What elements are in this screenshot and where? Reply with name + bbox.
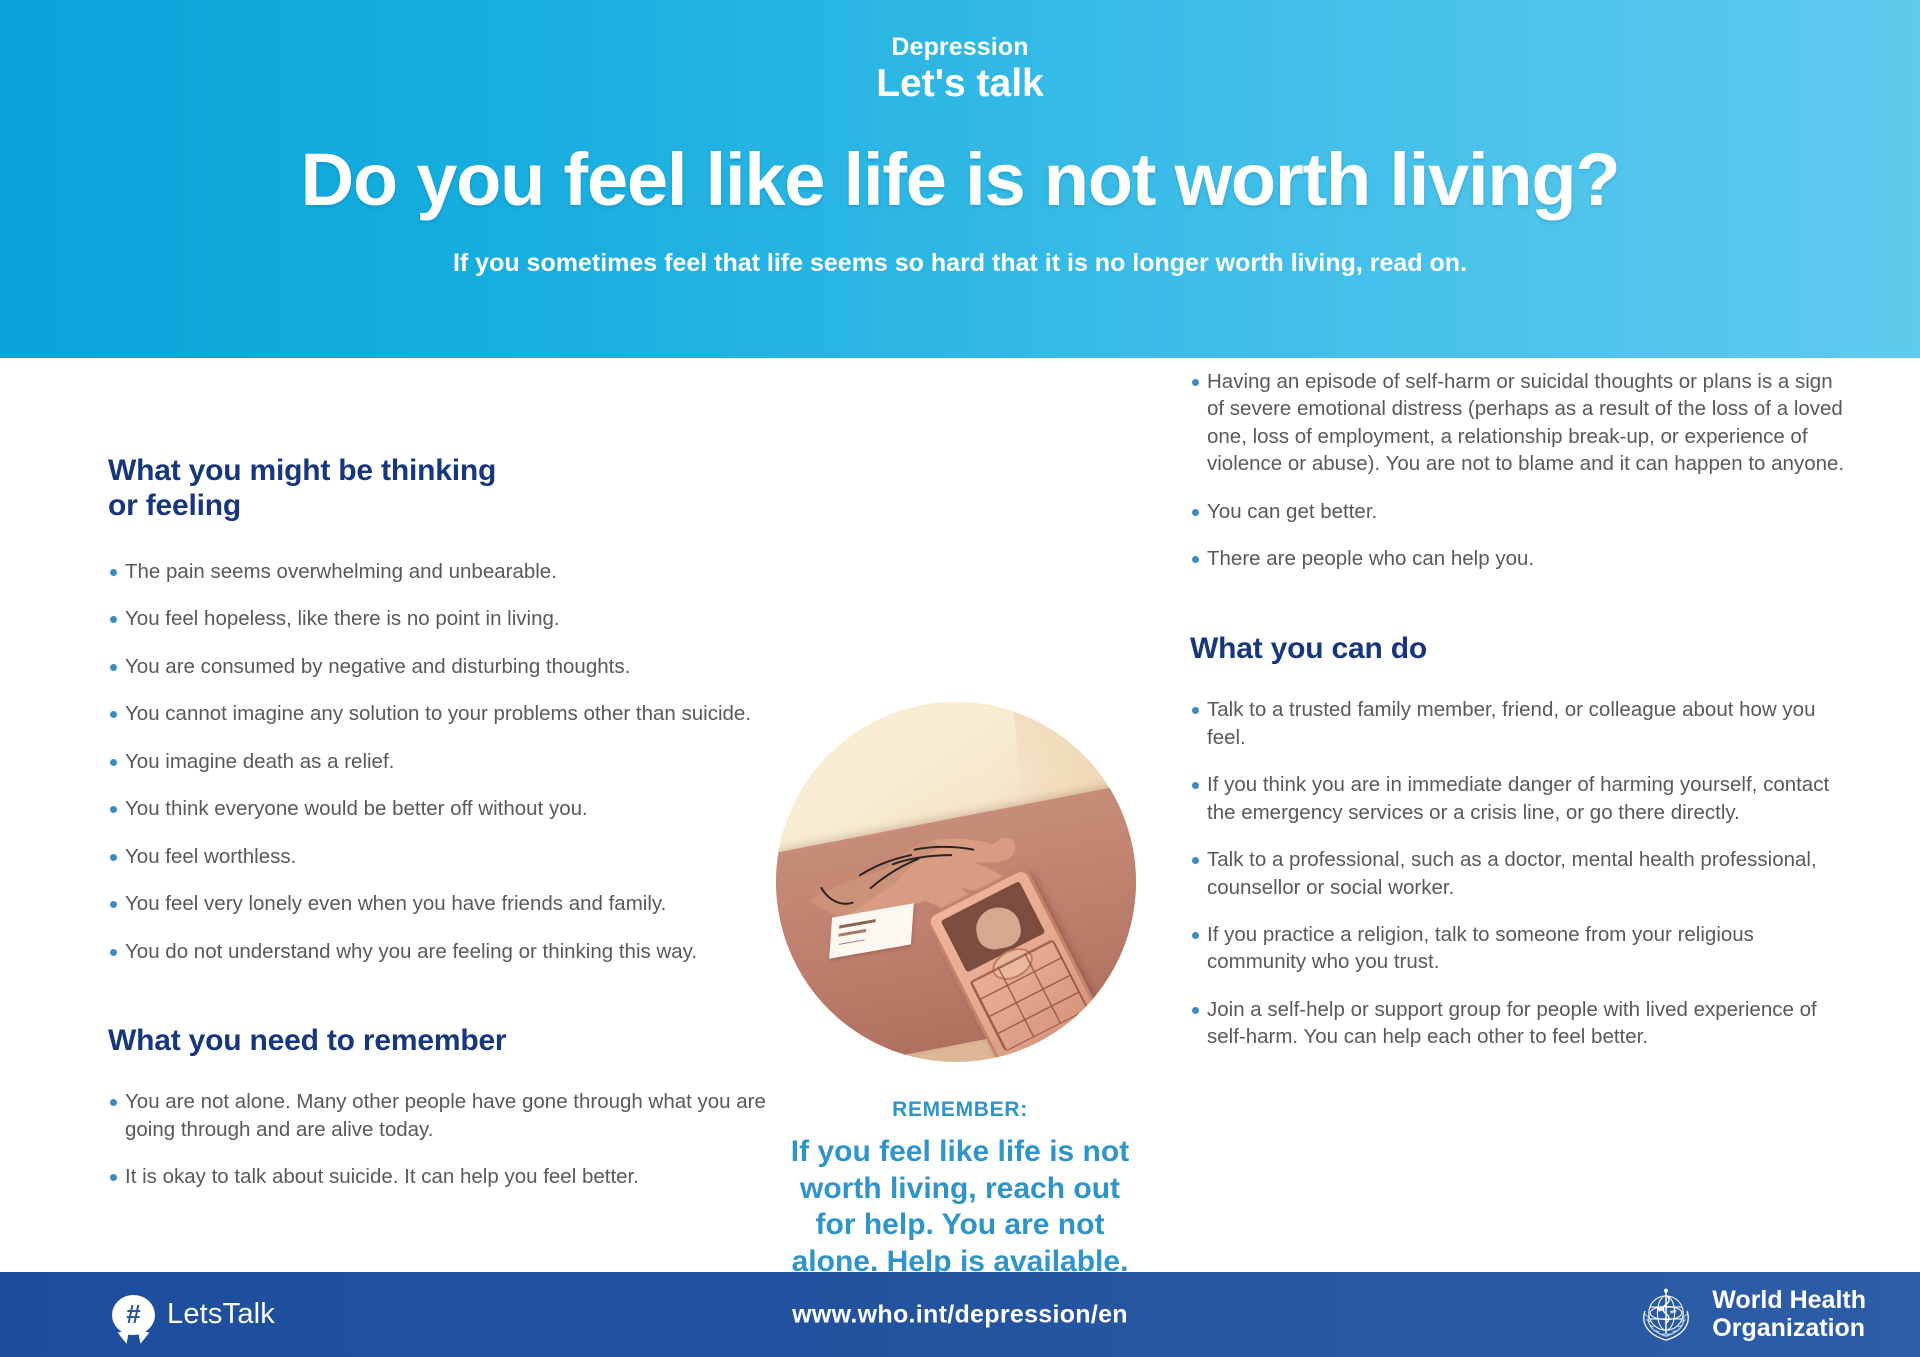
illustration-circle — [776, 702, 1136, 1062]
section-title-what-you-can-do: What you can do — [1190, 631, 1850, 666]
campaign-brand-lets-talk: Let's talk — [0, 60, 1920, 105]
who-emblem-icon — [1633, 1282, 1699, 1348]
left-column: What you might be thinking or feeling Th… — [108, 453, 768, 1191]
list-item: If you think you are in immediate danger… — [1190, 771, 1850, 826]
remember-label: REMEMBER: — [790, 1098, 1130, 1122]
list-item: You think everyone would be better off w… — [108, 795, 768, 822]
section-title-thinking-feeling: What you might be thinking or feeling — [108, 453, 768, 524]
section-title-need-to-remember: What you need to remember — [108, 1023, 768, 1058]
poster-body: What you might be thinking or feeling Th… — [0, 358, 1920, 1270]
list-item: Join a self-help or support group for pe… — [1190, 996, 1850, 1051]
who-name-text: World Health Organization — [1712, 1287, 1866, 1342]
list-item: Having an episode of self-harm or suicid… — [1190, 368, 1850, 478]
spacer — [1190, 573, 1850, 631]
list-item: You imagine death as a relief. — [108, 748, 768, 775]
list-item: Talk to a professional, such as a doctor… — [1190, 846, 1850, 901]
what-you-can-do-list: Talk to a trusted family member, friend,… — [1190, 696, 1850, 1051]
list-item: You can get better. — [1190, 498, 1850, 525]
list-item: The pain seems overwhelming and unbearab… — [108, 558, 768, 585]
need-to-remember-list: You are not alone. Many other people hav… — [108, 1088, 768, 1190]
hand-phone-illustration — [776, 702, 1136, 1062]
thinking-feeling-list: The pain seems overwhelming and unbearab… — [108, 558, 768, 965]
poster-root: Depression Let's talk Do you feel like l… — [0, 0, 1920, 1357]
spacer — [108, 965, 768, 1023]
list-item: Talk to a trusted family member, friend,… — [1190, 696, 1850, 751]
poster-footer: # LetsTalk www.who.int/depression/en — [0, 1272, 1920, 1357]
poster-subheadline: If you sometimes feel that life seems so… — [0, 217, 1920, 278]
remember-callout: REMEMBER: If you feel like life is not w… — [790, 1098, 1130, 1280]
campaign-brand-depression: Depression — [0, 0, 1920, 60]
poster-headline: Do you feel like life is not worth livin… — [0, 105, 1920, 217]
list-item: There are people who can help you. — [1190, 545, 1850, 572]
list-item: You cannot imagine any solution to your … — [108, 700, 768, 727]
list-item: You are consumed by negative and disturb… — [108, 653, 768, 680]
list-item: It is okay to talk about suicide. It can… — [108, 1163, 768, 1190]
list-item: You feel worthless. — [108, 843, 768, 870]
remember-message: If you feel like life is not worth livin… — [790, 1134, 1130, 1280]
list-item: If you practice a religion, talk to some… — [1190, 921, 1850, 976]
footer-website-url[interactable]: www.who.int/depression/en — [0, 1300, 1920, 1329]
poster-header: Depression Let's talk Do you feel like l… — [0, 0, 1920, 358]
list-item: You are not alone. Many other people hav… — [108, 1088, 768, 1143]
list-item: You feel hopeless, like there is no poin… — [108, 605, 768, 632]
intro-facts-list: Having an episode of self-harm or suicid… — [1190, 368, 1850, 573]
list-item: You feel very lonely even when you have … — [108, 890, 768, 917]
who-logo: World Health Organization — [1633, 1282, 1866, 1348]
list-item: You do not understand why you are feelin… — [108, 938, 768, 965]
right-column: Having an episode of self-harm or suicid… — [1190, 368, 1850, 1051]
